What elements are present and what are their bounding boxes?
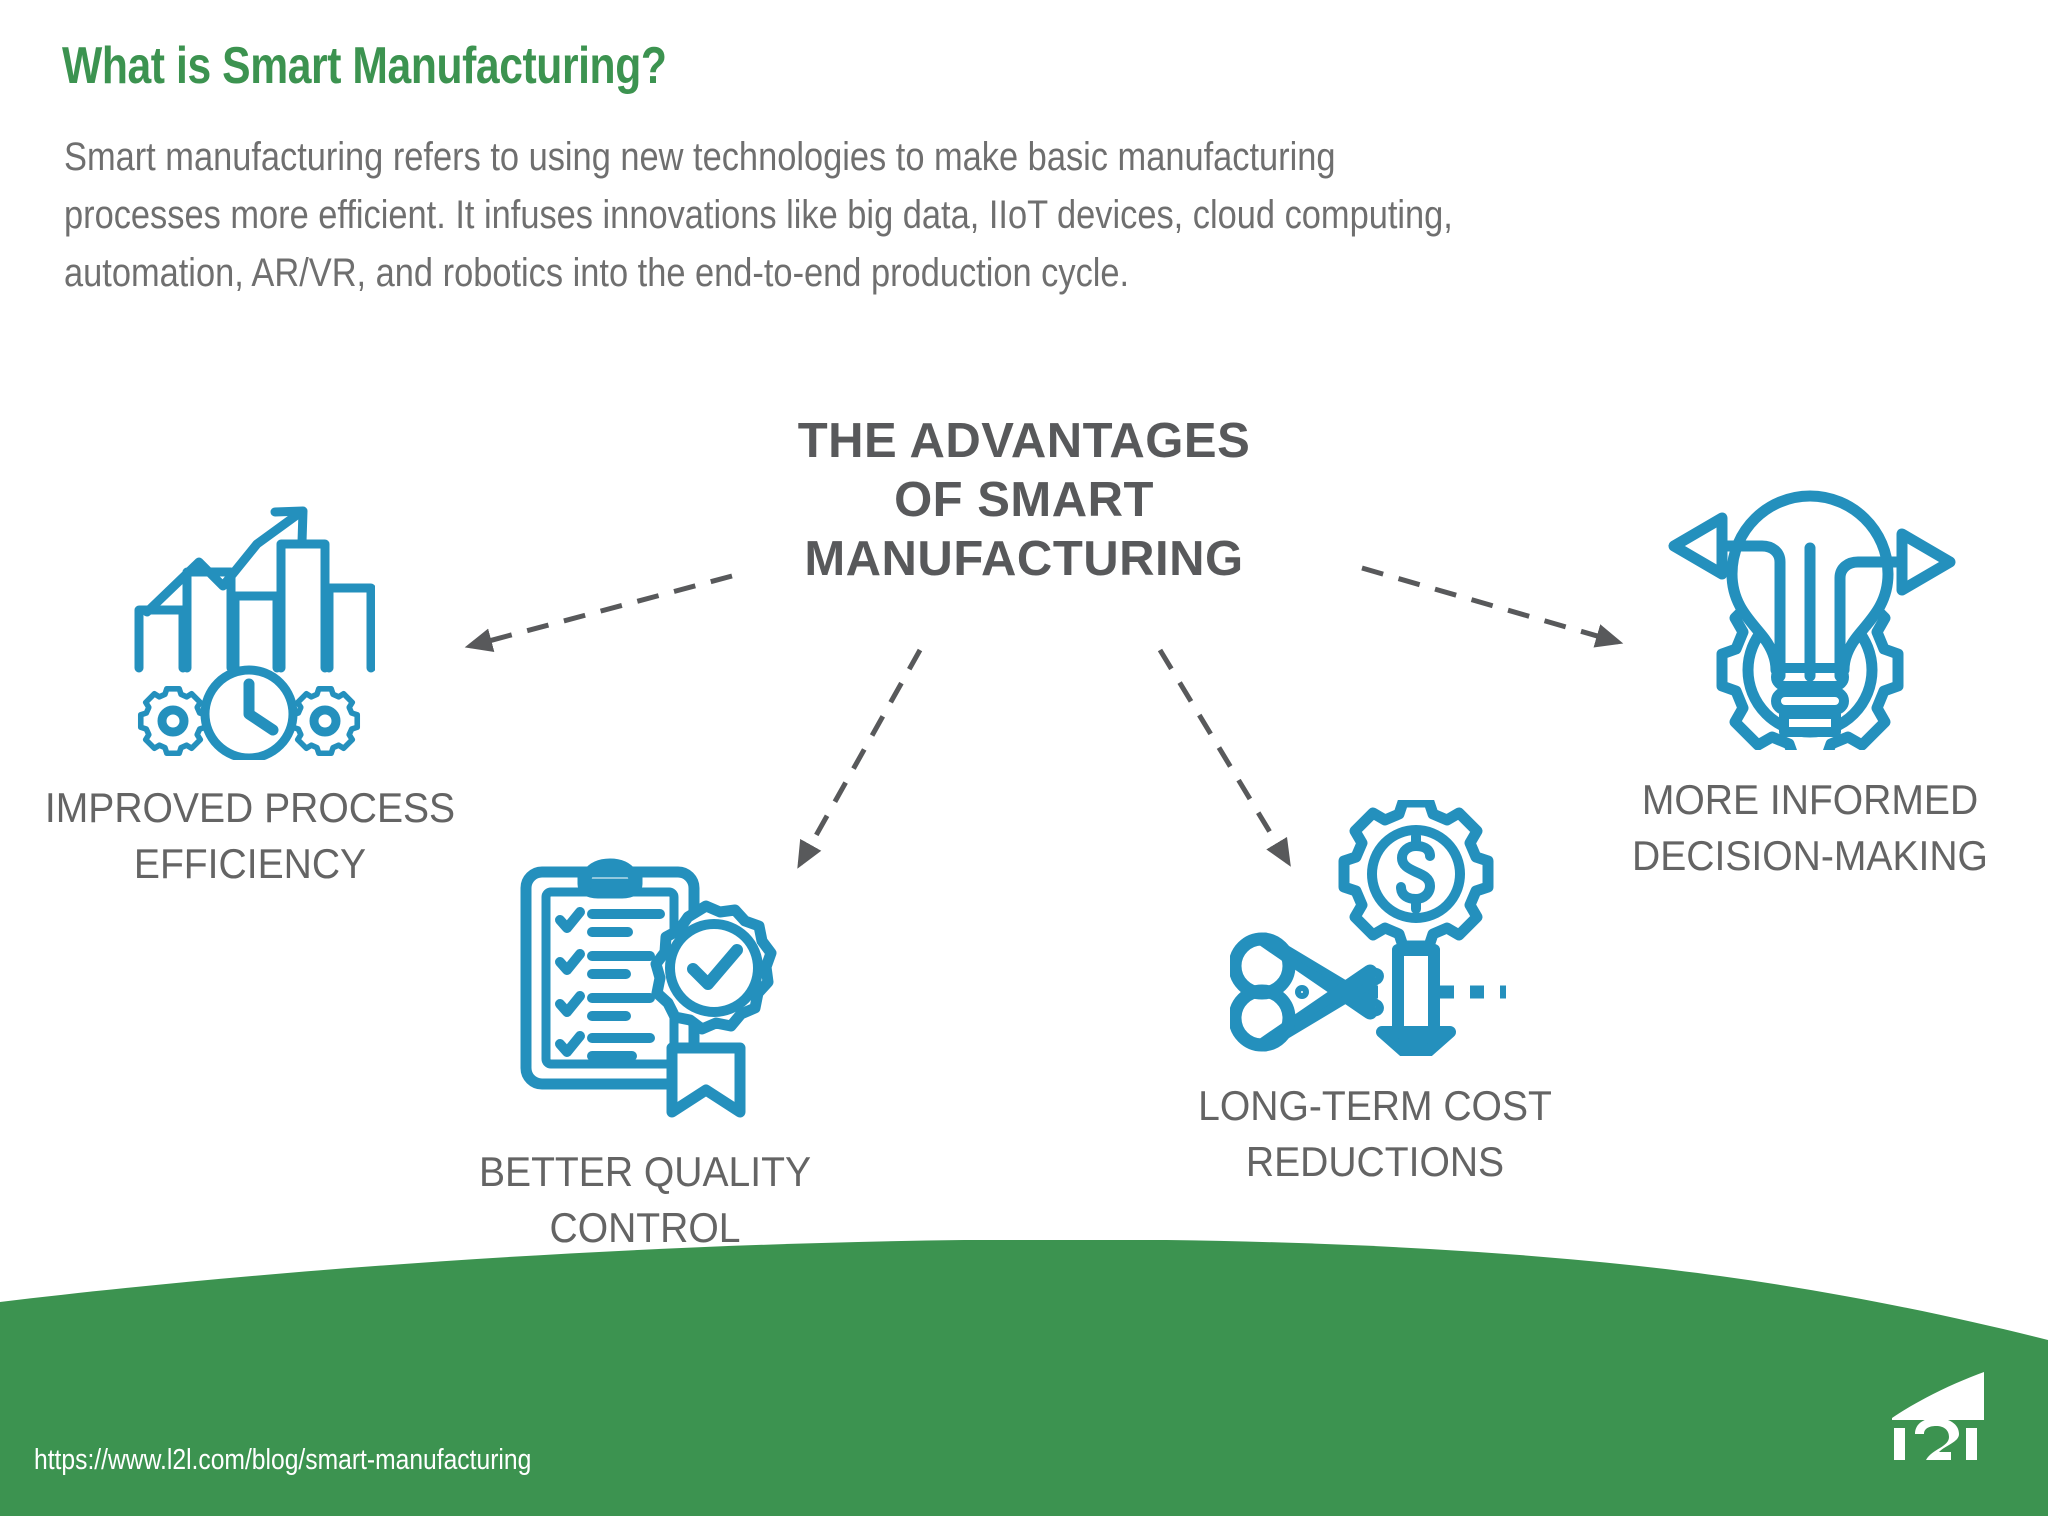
advantage-decision-label: MORE INFORMED DECISION-MAKING bbox=[1578, 772, 2043, 884]
advantage-cost-label-line-2: REDUCTIONS bbox=[1129, 1134, 1622, 1190]
advantage-quality-label-line-1: BETTER QUALITY bbox=[413, 1144, 878, 1200]
advantage-decision-label-line-2: DECISION-MAKING bbox=[1578, 828, 2043, 884]
advantage-cost-label-line-1: LONG-TERM COST bbox=[1129, 1078, 1622, 1134]
advantage-decision-label-line-1: MORE INFORMED bbox=[1578, 772, 2043, 828]
bar-chart-growth-gears-clock-icon bbox=[0, 500, 500, 760]
center-title-line-3: MANUFACTURING bbox=[674, 530, 1374, 589]
infographic-canvas: What is Smart Manufacturing? Smart manuf… bbox=[0, 0, 2048, 1516]
source-url[interactable]: https://www.l2l.com/blog/smart-manufactu… bbox=[34, 1444, 531, 1477]
center-title-line-2: OF SMART bbox=[674, 471, 1374, 530]
clipboard-checklist-award-ribbon-icon bbox=[395, 850, 895, 1122]
center-title-line-1: THE ADVANTAGES bbox=[674, 412, 1374, 471]
advantage-efficiency-label-line-1: IMPROVED PROCESS bbox=[18, 780, 483, 836]
intro-line-1: Smart manufacturing refers to using new … bbox=[64, 128, 1750, 186]
lightbulb-gear-direction-arrows-icon bbox=[1560, 470, 2048, 750]
intro-line-3: automation, AR/VR, and robotics into the… bbox=[64, 244, 1750, 302]
diagram-center-title: THE ADVANTAGES OF SMART MANUFACTURING bbox=[674, 412, 1374, 589]
intro-paragraph: Smart manufacturing refers to using new … bbox=[64, 128, 1750, 302]
page-title: What is Smart Manufacturing? bbox=[62, 36, 666, 96]
advantage-efficiency: IMPROVED PROCESS EFFICIENCY bbox=[0, 500, 500, 892]
advantage-quality: BETTER QUALITY CONTROL bbox=[395, 850, 895, 1256]
l2l-logo[interactable] bbox=[1836, 1330, 2016, 1460]
advantage-decision: MORE INFORMED DECISION-MAKING bbox=[1560, 470, 2048, 884]
arrow-to-quality bbox=[800, 650, 920, 864]
advantage-cost-label: LONG-TERM COST REDUCTIONS bbox=[1129, 1078, 1622, 1190]
intro-line-2: processes more efficient. It infuses inn… bbox=[64, 186, 1750, 244]
